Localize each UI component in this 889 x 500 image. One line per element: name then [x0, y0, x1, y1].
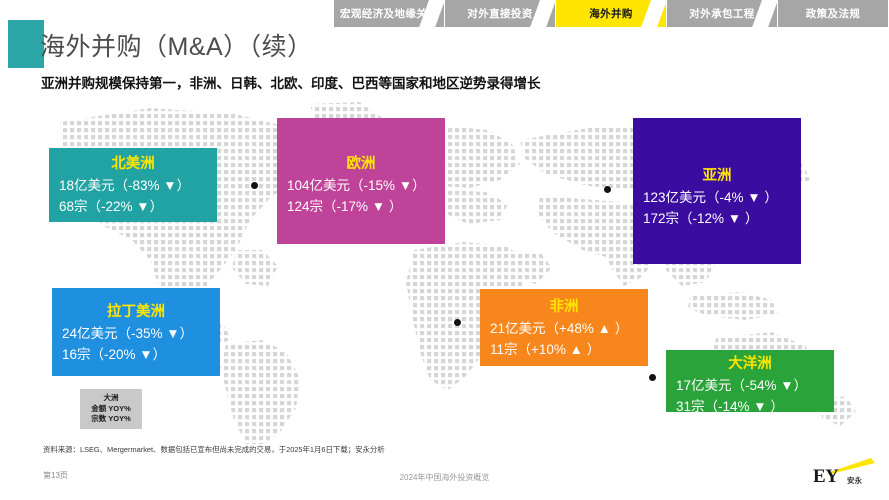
map-legend: 大洲 金额 YOY% 宗数 YOY%: [80, 389, 142, 429]
region-count: 68宗（-22% ▼）: [59, 196, 207, 217]
region-name: 大洋洲: [676, 354, 824, 374]
page-title: 海外并购（M&A）（续）: [40, 27, 313, 63]
region-amount: 18亿美元（-83% ▼）: [59, 175, 207, 196]
region-amount: 104亿美元（-15% ▼）: [287, 175, 435, 196]
map-marker-asia: [604, 186, 611, 193]
tab-overseas-contracting[interactable]: 对外承包工程: [667, 0, 777, 27]
tab-label: 对外直接投资: [467, 6, 532, 21]
legend-line-amount-yoy: 金额 YOY%: [91, 404, 131, 415]
region-count: 31宗（-14% ▼ ）: [676, 396, 824, 417]
region-amount: 21亿美元（+48% ▲ ）: [490, 318, 638, 339]
source-note: 资料来源：LSEG、Mergermarket、数据包括已宣布但尚未完成的交易，于…: [43, 444, 385, 455]
ey-logo: EY 安永: [813, 458, 875, 490]
region-box-asia[interactable]: 亚洲 123亿美元（-4% ▼ ） 172宗（-12% ▼ ）: [633, 118, 801, 264]
map-marker-oceania: [649, 374, 656, 381]
legend-line-count-yoy: 宗数 YOY%: [91, 414, 131, 425]
tab-macro-economy[interactable]: 宏观经济及地缘关系: [334, 0, 444, 27]
region-box-latin-america[interactable]: 拉丁美洲 24亿美元（-35% ▼） 16宗（-20% ▼）: [52, 288, 220, 376]
tab-divider-icon: [752, 0, 778, 27]
region-box-africa[interactable]: 非洲 21亿美元（+48% ▲ ） 11宗（+10% ▲ ）: [480, 289, 648, 366]
deck-title: 2024年中国海外投资概览: [0, 472, 889, 483]
region-name: 非洲: [490, 297, 638, 317]
region-box-europe[interactable]: 欧洲 104亿美元（-15% ▼） 124宗（-17% ▼ ）: [277, 118, 445, 244]
region-name: 北美洲: [59, 154, 207, 174]
tab-label: 政策及法规: [806, 6, 861, 21]
tab-overseas-ma[interactable]: 海外并购: [556, 0, 666, 27]
region-name: 亚洲: [643, 166, 791, 186]
region-box-oceania[interactable]: 大洋洲 17亿美元（-54% ▼） 31宗（-14% ▼ ）: [666, 350, 834, 412]
tab-divider-icon: [530, 0, 556, 27]
page-subtitle: 亚洲并购规模保持第一，非洲、日韩、北欧、印度、巴西等国家和地区逆势录得增长: [41, 72, 541, 92]
region-name: 欧洲: [287, 154, 435, 174]
tab-label: 宏观经济及地缘关系: [340, 6, 438, 21]
tab-outbound-direct-investment[interactable]: 对外直接投资: [445, 0, 555, 27]
tab-label: 对外承包工程: [689, 6, 754, 21]
region-amount: 123亿美元（-4% ▼ ）: [643, 187, 791, 208]
ey-wordmark: EY: [813, 466, 838, 488]
region-count: 124宗（-17% ▼ ）: [287, 196, 435, 217]
title-accent-bar: [8, 20, 44, 68]
region-box-north-america[interactable]: 北美洲 18亿美元（-83% ▼） 68宗（-22% ▼）: [49, 148, 217, 222]
map-marker-africa: [454, 319, 461, 326]
tab-divider-icon: [641, 0, 667, 27]
legend-line-continent: 大洲: [104, 393, 119, 404]
region-amount: 24亿美元（-35% ▼）: [62, 323, 210, 344]
region-name: 拉丁美洲: [62, 302, 210, 322]
region-count: 11宗（+10% ▲ ）: [490, 339, 638, 360]
map-marker-north-america: [251, 182, 258, 189]
region-count: 16宗（-20% ▼）: [62, 344, 210, 365]
region-count: 172宗（-12% ▼ ）: [643, 208, 791, 229]
top-nav-tabs: 宏观经济及地缘关系 对外直接投资 海外并购 对外承包工程 政策及法规: [334, 0, 889, 27]
tab-policy-regulation[interactable]: 政策及法规: [778, 0, 888, 27]
region-amount: 17亿美元（-54% ▼）: [676, 375, 824, 396]
ey-chinese-name: 安永: [847, 475, 862, 486]
tab-label: 海外并购: [589, 6, 633, 21]
